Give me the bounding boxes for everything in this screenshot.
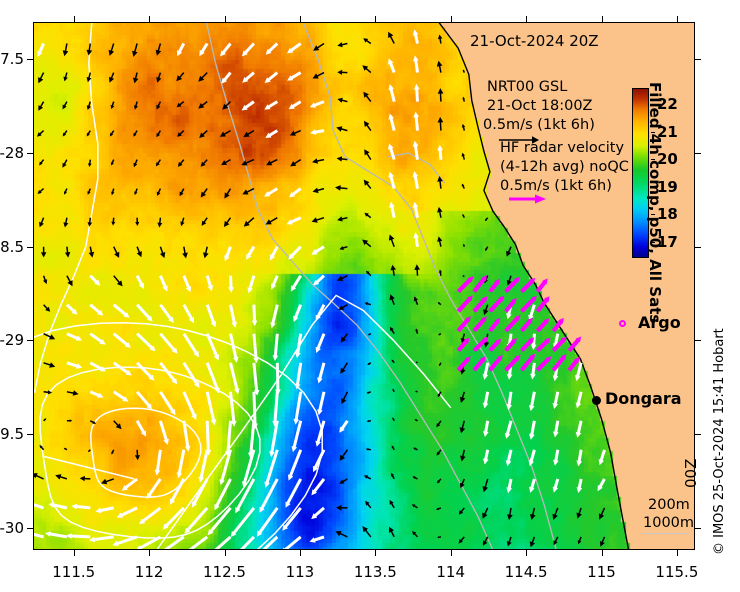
gsl-current-arrow-strong — [231, 334, 239, 363]
gsl-current-arrow-strong — [160, 392, 175, 415]
gsl-current-arrow-strong — [122, 479, 137, 491]
x-axis-tick — [300, 550, 301, 556]
y-axis-tick — [695, 434, 701, 435]
y-axis-tick — [27, 434, 33, 435]
gsl-current-arrow — [362, 65, 371, 72]
gsl-current-arrow — [133, 73, 138, 84]
gsl-current-arrow — [87, 189, 90, 195]
gsl-current-arrow-strong — [577, 479, 583, 493]
gsl-current-arrow — [55, 474, 67, 480]
gsl-current-arrow-strong — [389, 202, 395, 218]
gsl-current-arrow — [367, 363, 371, 365]
gsl-current-arrow — [290, 160, 301, 167]
gsl-current-arrow-strong — [553, 392, 559, 409]
gsl-current-arrow — [437, 479, 441, 484]
gsl-current-arrow-strong — [242, 73, 254, 83]
gsl-current-arrow-strong — [137, 392, 152, 410]
gsl-current-arrow-strong — [254, 537, 277, 550]
gsl-current-arrow-strong — [184, 334, 199, 358]
gsl-current-arrow — [290, 131, 301, 136]
gsl-current-arrow-strong — [598, 479, 605, 491]
gsl-current-arrow — [463, 244, 465, 247]
gsl-current-arrow — [313, 73, 325, 79]
gsl-current-arrow — [459, 537, 465, 544]
gsl-current-arrow — [530, 537, 535, 547]
gsl-current-arrow-strong — [158, 537, 184, 550]
y-axis-tick — [695, 247, 701, 248]
gsl-current-arrow-strong — [315, 421, 324, 447]
gsl-current-arrow-strong — [264, 189, 277, 197]
x-axis-tick — [375, 550, 376, 556]
gsl-current-arrow-strong — [137, 276, 144, 289]
hf-radar-arrow — [553, 354, 566, 370]
gsl-current-arrow — [313, 44, 324, 51]
gsl-current-arrow — [554, 537, 558, 545]
gsl-current-arrow-strong — [89, 537, 114, 543]
hf-radar-arrow — [458, 316, 471, 331]
gsl-current-arrow-strong — [529, 421, 535, 440]
x-axis-tick — [225, 16, 226, 22]
gsl-current-arrow — [111, 218, 115, 226]
gsl-current-arrow-strong — [114, 334, 131, 348]
gsl-current-arrow — [438, 392, 441, 398]
gsl-current-arrow — [88, 450, 90, 452]
gsl-current-arrow — [414, 419, 417, 421]
gsl-current-arrow-strong — [180, 537, 208, 550]
gsl-current-arrow-strong — [224, 247, 230, 262]
gsl-current-arrow — [177, 131, 184, 137]
gsl-current-arrow-strong — [160, 421, 169, 445]
vector-overlay-layer — [33, 22, 695, 550]
gsl-current-arrow-strong — [253, 334, 259, 364]
hf-radar-arrow — [474, 275, 487, 292]
x-axis-tick — [375, 16, 376, 22]
gsl-current-arrow-strong — [413, 55, 419, 72]
gsl-current-arrow — [336, 126, 347, 132]
colorbar-title: Filled 4h comp, p50, All Sats — [646, 82, 664, 323]
gsl-current-arrow-strong — [295, 363, 301, 390]
x-axis-tick — [451, 16, 452, 22]
gsl-current-arrow — [222, 102, 230, 110]
gsl-current-arrow — [313, 188, 325, 194]
gsl-current-arrow — [366, 448, 371, 451]
gsl-current-arrow-strong — [139, 508, 160, 524]
gsl-current-arrow — [88, 218, 93, 227]
gsl-current-arrow-strong — [388, 58, 394, 72]
gsl-current-arrow — [485, 247, 488, 251]
gsl-current-arrow — [437, 61, 443, 73]
y-axis-tick-label: -30 — [0, 519, 24, 537]
gsl-current-arrow-strong — [160, 363, 177, 385]
x-axis-tick — [602, 16, 603, 22]
gsl-current-arrow-strong — [506, 450, 512, 466]
gsl-current-arrow — [482, 508, 487, 519]
x-axis-tick-label: 113.5 — [354, 563, 397, 581]
gsl-current-arrow-strong — [198, 450, 207, 483]
gsl-current-arrow — [44, 305, 51, 312]
gsl-current-arrow — [363, 92, 371, 102]
gsl-current-arrow-strong — [483, 450, 489, 465]
gsl-current-arrow — [337, 42, 347, 47]
gsl-current-arrow — [337, 70, 347, 75]
gsl-current-arrow — [266, 160, 277, 166]
gsl-current-arrow — [507, 508, 513, 520]
gsl-current-arrow-strong — [292, 421, 301, 452]
gsl-current-arrow-strong — [388, 143, 394, 159]
gsl-current-arrow — [38, 73, 44, 84]
gsl-current-arrow — [87, 102, 91, 110]
hf-radar-arrow — [569, 337, 581, 351]
gsl-current-arrow — [111, 160, 114, 166]
gsl-current-arrow-strong — [184, 363, 200, 388]
gsl-current-arrow-strong — [33, 501, 44, 508]
gsl-current-arrow-strong — [265, 73, 278, 83]
gsl-current-arrow — [365, 501, 371, 508]
gsl-current-arrow — [412, 504, 418, 508]
gsl-current-arrow — [220, 131, 231, 137]
gsl-current-arrow-strong — [287, 44, 301, 54]
gsl-current-arrow-strong — [221, 73, 230, 84]
hf-radar-arrow — [490, 355, 503, 370]
gsl-current-arrow-strong — [599, 450, 605, 466]
gsl-current-arrow-strong — [291, 276, 301, 292]
gsl-current-arrow — [44, 334, 56, 340]
gsl-current-arrow — [463, 69, 465, 72]
gsl-current-arrow — [437, 450, 441, 456]
gsl-current-arrow — [337, 156, 348, 161]
gsl-current-arrow — [340, 363, 347, 374]
gsl-current-arrow — [462, 184, 465, 189]
gsl-current-arrow — [437, 236, 442, 246]
gsl-current-arrow-strong — [45, 531, 67, 537]
sst-map-figure: 21-Oct-2024 20Z NRT00 GSL 21-Oct 18:00Z … — [0, 0, 740, 592]
gsl-current-arrow-strong — [48, 502, 67, 508]
gsl-current-arrow-strong — [147, 479, 161, 499]
gsl-current-arrow — [111, 450, 113, 455]
gsl-current-arrow — [460, 479, 465, 488]
gsl-current-arrow — [182, 247, 188, 259]
gsl-current-arrow — [414, 264, 420, 275]
gsl-current-arrow — [137, 247, 142, 258]
gsl-current-arrow-strong — [576, 450, 582, 467]
gsl-current-arrow — [390, 294, 395, 305]
gsl-current-arrow — [460, 392, 466, 403]
gsl-current-arrow-strong — [553, 450, 559, 466]
gsl-current-arrow-strong — [160, 276, 167, 292]
gsl-current-arrow — [134, 189, 137, 196]
gsl-current-arrow — [241, 160, 254, 166]
gsl-current-arrow-strong — [199, 44, 207, 57]
y-axis-tick-label: -28 — [0, 144, 24, 162]
hf-radar-arrow — [474, 356, 486, 370]
gsl-current-arrow-strong — [207, 334, 219, 361]
gsl-current-arrow — [336, 505, 347, 511]
gsl-current-arrow — [577, 508, 582, 519]
gsl-current-arrow — [110, 131, 114, 137]
gsl-current-arrow-strong — [293, 305, 301, 322]
gsl-current-arrow-strong — [137, 305, 153, 322]
gsl-current-arrow-strong — [184, 508, 207, 534]
gsl-current-arrow-strong — [246, 247, 254, 260]
gsl-current-arrow — [177, 102, 184, 108]
gsl-current-arrow — [463, 276, 465, 277]
gsl-current-arrow-strong — [137, 334, 156, 352]
gsl-current-arrow-strong — [242, 102, 254, 111]
gsl-current-arrow-strong — [247, 276, 254, 294]
gsl-current-arrow-strong — [67, 363, 82, 369]
gsl-current-arrow-strong — [272, 392, 278, 427]
gsl-current-arrow — [483, 479, 489, 492]
hf-radar-arrow — [458, 295, 473, 311]
x-axis-tick — [300, 16, 301, 22]
gsl-current-arrow — [438, 117, 444, 131]
gsl-current-arrow-strong — [295, 334, 301, 358]
gsl-current-arrow-strong — [310, 102, 324, 108]
gsl-current-arrow — [364, 121, 371, 131]
gsl-current-arrow-strong — [90, 392, 103, 398]
gsl-current-arrow — [199, 131, 207, 138]
gsl-current-arrow — [134, 160, 138, 168]
gsl-current-arrow — [89, 247, 95, 258]
gsl-current-arrow — [393, 389, 395, 392]
gsl-current-arrow-strong — [529, 479, 534, 493]
gsl-current-arrow — [366, 271, 371, 276]
gsl-current-arrow — [415, 391, 417, 392]
gsl-current-arrow — [460, 450, 466, 462]
gsl-current-arrow — [114, 276, 123, 287]
y-axis-tick-label: -29 — [0, 331, 24, 349]
gsl-current-arrow — [341, 334, 348, 343]
hf-label-line1: HF radar velocity — [500, 139, 624, 158]
y-axis-tick — [695, 340, 701, 341]
gsl-current-arrow — [339, 305, 348, 310]
gsl-current-arrow-strong — [413, 30, 419, 44]
gsl-current-arrow-strong — [231, 537, 254, 550]
gsl-current-arrow — [416, 362, 418, 363]
argo-marker-icon — [619, 320, 626, 327]
hf-radar-arrow — [490, 279, 500, 292]
gsl-current-arrow-strong — [505, 421, 511, 439]
gsl-current-arrow — [483, 305, 488, 315]
gsl-current-arrow-strong — [214, 479, 230, 510]
gsl-current-arrow-strong — [220, 44, 230, 57]
gsl-current-arrow — [156, 160, 161, 167]
gsl-current-arrow — [507, 537, 512, 547]
gsl-current-arrow-strong — [207, 276, 213, 292]
gsl-current-arrow — [364, 149, 371, 159]
gsl-current-arrow-strong — [413, 112, 419, 131]
gsl-current-arrow — [221, 160, 230, 166]
gsl-current-arrow-strong — [170, 479, 184, 505]
gsl-current-arrow-strong — [530, 363, 536, 380]
gsl-current-arrow-strong — [288, 247, 300, 260]
gsl-current-arrow — [114, 421, 122, 429]
gsl-current-arrow — [364, 213, 370, 218]
gsl-current-arrow — [109, 44, 115, 56]
x-axis-tick — [677, 550, 678, 556]
y-axis-tick-label: -28.5 — [0, 238, 24, 256]
gsl-current-arrow — [63, 73, 67, 82]
gsl-current-arrow-strong — [316, 334, 324, 353]
gsl-current-arrow-strong — [316, 305, 324, 321]
gsl-current-arrow — [553, 508, 558, 520]
gsl-current-arrow — [462, 97, 465, 102]
x-axis-tick-label: 113 — [286, 563, 315, 581]
gsl-current-arrow — [462, 124, 465, 131]
gsl-current-arrow-strong — [114, 363, 132, 376]
gsl-current-arrow — [599, 508, 605, 520]
gsl-current-arrow — [178, 160, 184, 167]
gsl-current-arrow — [67, 276, 73, 287]
gsl-current-arrow-strong — [160, 334, 177, 354]
hf-radar-arrow — [506, 355, 521, 371]
gsl-current-arrow-strong — [90, 276, 100, 286]
map-plot-area[interactable] — [33, 22, 695, 550]
gsl-current-arrow — [459, 508, 465, 515]
gsl-current-arrow — [156, 131, 160, 138]
gsl-current-arrow-strong — [309, 537, 324, 543]
gsl-current-arrow — [38, 102, 43, 111]
gsl-current-arrow — [438, 35, 443, 44]
gsl-current-arrow-strong — [177, 450, 184, 479]
gsl-current-arrow-strong — [114, 305, 130, 318]
x-axis-tick — [526, 550, 527, 556]
gsl-current-arrow-strong — [311, 508, 324, 519]
gsl-current-arrow — [37, 131, 44, 137]
x-axis-tick — [225, 550, 226, 556]
gsl-current-arrow — [438, 88, 444, 102]
hf-radar-arrow — [490, 318, 501, 331]
gsl-current-arrow — [111, 189, 114, 196]
gsl-current-arrow-strong — [90, 334, 105, 345]
gsl-current-arrow — [244, 218, 254, 227]
gsl-current-arrow — [339, 246, 347, 250]
gsl-current-arrow — [412, 531, 417, 537]
hf-radar-arrow — [569, 357, 580, 371]
gsl-current-arrow — [364, 475, 371, 479]
y-axis-tick — [695, 153, 701, 154]
gsl-current-arrow — [63, 218, 68, 228]
gsl-current-arrow-strong — [252, 305, 258, 326]
gsl-current-arrow-strong — [289, 102, 301, 110]
gsl-current-arrow-strong — [317, 363, 324, 384]
gsl-current-arrow — [437, 207, 442, 218]
hf-radar-arrow — [537, 296, 549, 311]
gsl-current-arrow-strong — [90, 363, 106, 372]
title-datetime: 21-Oct-2024 20Z — [470, 32, 599, 52]
gsl-current-arrow — [312, 158, 324, 164]
gsl-current-arrow-strong — [413, 232, 419, 247]
gsl-current-arrow-strong — [33, 530, 44, 537]
gsl-current-arrow — [392, 446, 394, 450]
gsl-current-arrow — [63, 44, 69, 57]
gsl-current-arrow-strong — [37, 44, 43, 57]
gsl-current-arrow-strong — [207, 392, 216, 426]
gsl-source-line1: NRT00 GSL — [487, 78, 567, 97]
gsl-current-arrow — [157, 218, 162, 228]
gsl-source-line2: 21-Oct 18:00Z — [487, 97, 593, 116]
gsl-current-arrow-strong — [184, 305, 194, 324]
gsl-current-arrow — [437, 176, 443, 189]
gsl-current-arrow — [363, 38, 371, 43]
y-axis-tick-label: -27.5 — [0, 50, 24, 68]
gsl-current-arrow-strong — [231, 305, 238, 328]
dongara-city-label: Dongara — [605, 389, 682, 408]
gsl-current-arrow-strong — [437, 145, 443, 160]
gsl-current-arrow — [414, 296, 418, 304]
gsl-current-arrow — [88, 160, 92, 167]
depth-legend-1000m: 1000m — [643, 514, 694, 533]
gsl-current-arrow — [157, 189, 161, 196]
hf-radar-arrow — [474, 316, 487, 331]
gsl-current-arrow-strong — [155, 450, 161, 476]
gsl-current-arrow-strong — [413, 202, 419, 218]
gsl-current-arrow — [600, 537, 605, 547]
x-axis-tick — [74, 550, 75, 556]
gsl-current-arrow-strong — [184, 392, 197, 420]
gsl-current-arrow-strong — [281, 537, 301, 550]
gsl-current-arrow-strong — [114, 392, 129, 402]
gsl-current-arrow — [368, 334, 371, 336]
gsl-current-arrow-strong — [266, 44, 278, 55]
gsl-current-arrow-strong — [388, 114, 394, 131]
y-axis-tick — [695, 528, 701, 529]
gsl-current-arrow-strong — [242, 44, 254, 57]
gsl-current-arrow — [160, 247, 165, 258]
gsl-current-arrow — [40, 445, 44, 450]
gsl-current-arrow — [156, 102, 160, 110]
gsl-current-arrow-strong — [184, 276, 191, 293]
gsl-current-arrow — [201, 160, 208, 167]
gsl-current-arrow — [462, 214, 464, 218]
gsl-current-arrow — [312, 217, 324, 222]
gsl-current-arrow — [224, 189, 230, 199]
gsl-current-arrow — [156, 73, 161, 83]
gsl-current-arrow-strong — [483, 363, 489, 380]
gsl-current-arrow-strong — [317, 392, 324, 415]
gsl-current-arrow-strong — [270, 247, 277, 261]
x-axis-tick — [149, 550, 150, 556]
gsl-current-arrow — [65, 247, 70, 258]
gsl-current-arrow — [413, 448, 417, 450]
depth-legend-line — [641, 533, 689, 534]
gsl-current-arrow — [391, 265, 397, 276]
gsl-current-arrow-strong — [66, 533, 90, 539]
gsl-current-arrow — [133, 131, 137, 137]
gsl-current-arrow — [63, 131, 67, 137]
gsl-current-arrow — [438, 334, 441, 336]
hf-radar-arrow — [537, 318, 549, 331]
gsl-current-arrow — [156, 44, 162, 56]
gsl-current-arrow — [114, 247, 120, 258]
gsl-current-arrow-strong — [67, 305, 78, 315]
gsl-current-arrow — [365, 302, 371, 305]
gsl-current-arrow-strong — [294, 392, 301, 425]
gsl-current-arrow-strong — [90, 305, 103, 316]
gsl-current-arrow — [243, 131, 254, 137]
gsl-current-arrow-strong — [553, 479, 559, 493]
gsl-current-arrow — [180, 218, 184, 227]
hf-radar-arrow — [458, 356, 470, 370]
gsl-current-arrow — [337, 276, 347, 281]
gsl-current-arrow — [367, 420, 371, 422]
gsl-current-arrow — [135, 450, 140, 461]
gsl-current-arrow-strong — [576, 392, 582, 409]
gsl-current-arrow-strong — [576, 421, 582, 438]
gsl-current-arrow — [38, 189, 44, 194]
gsl-current-arrow-strong — [311, 247, 324, 255]
gsl-current-arrow-strong — [275, 363, 281, 395]
